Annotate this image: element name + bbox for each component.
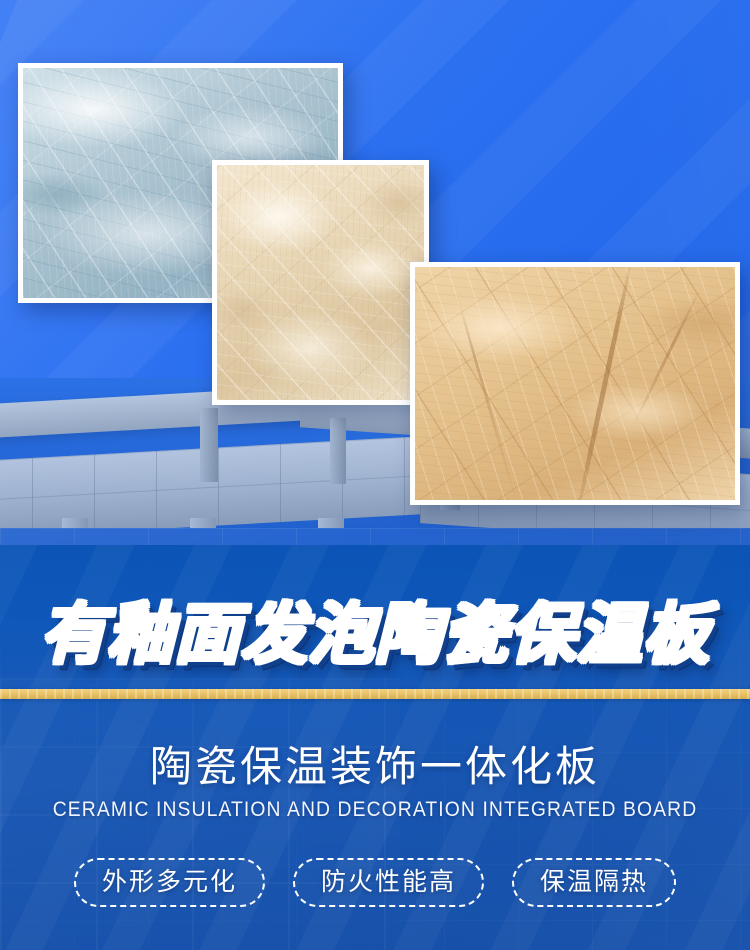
marble-vein-1 — [572, 262, 634, 505]
main-title-text: 有釉面发泡陶瓷保温板 — [40, 581, 710, 677]
subtitle-english: CERAMIC INSULATION AND DECORATION INTEGR… — [30, 798, 720, 822]
tan-marble-texture — [415, 267, 735, 500]
feature-tag-3[interactable]: 保温隔热 — [512, 858, 676, 907]
sample-tile-3 — [410, 262, 740, 505]
cream-marble-texture — [217, 165, 424, 400]
main-title: 有釉面发泡陶瓷保温板 — [0, 592, 750, 666]
feature-tag-1[interactable]: 外形多元化 — [74, 858, 265, 907]
subtitle-chinese: 陶瓷保温装饰一体化板 — [0, 733, 750, 794]
gold-divider-bar — [0, 689, 750, 699]
building-column-2 — [330, 418, 346, 484]
marble-vein-2 — [455, 290, 520, 505]
feature-tag-list: 外形多元化 防火性能高 保温隔热 — [0, 858, 750, 907]
feature-tag-2[interactable]: 防火性能高 — [293, 858, 484, 907]
sample-tile-2 — [212, 160, 429, 405]
product-banner: 有釉面发泡陶瓷保温板 陶瓷保温装饰一体化板 CERAMIC INSULATION… — [0, 0, 750, 950]
marble-vein-3 — [629, 284, 703, 432]
building-column-1 — [200, 408, 218, 482]
